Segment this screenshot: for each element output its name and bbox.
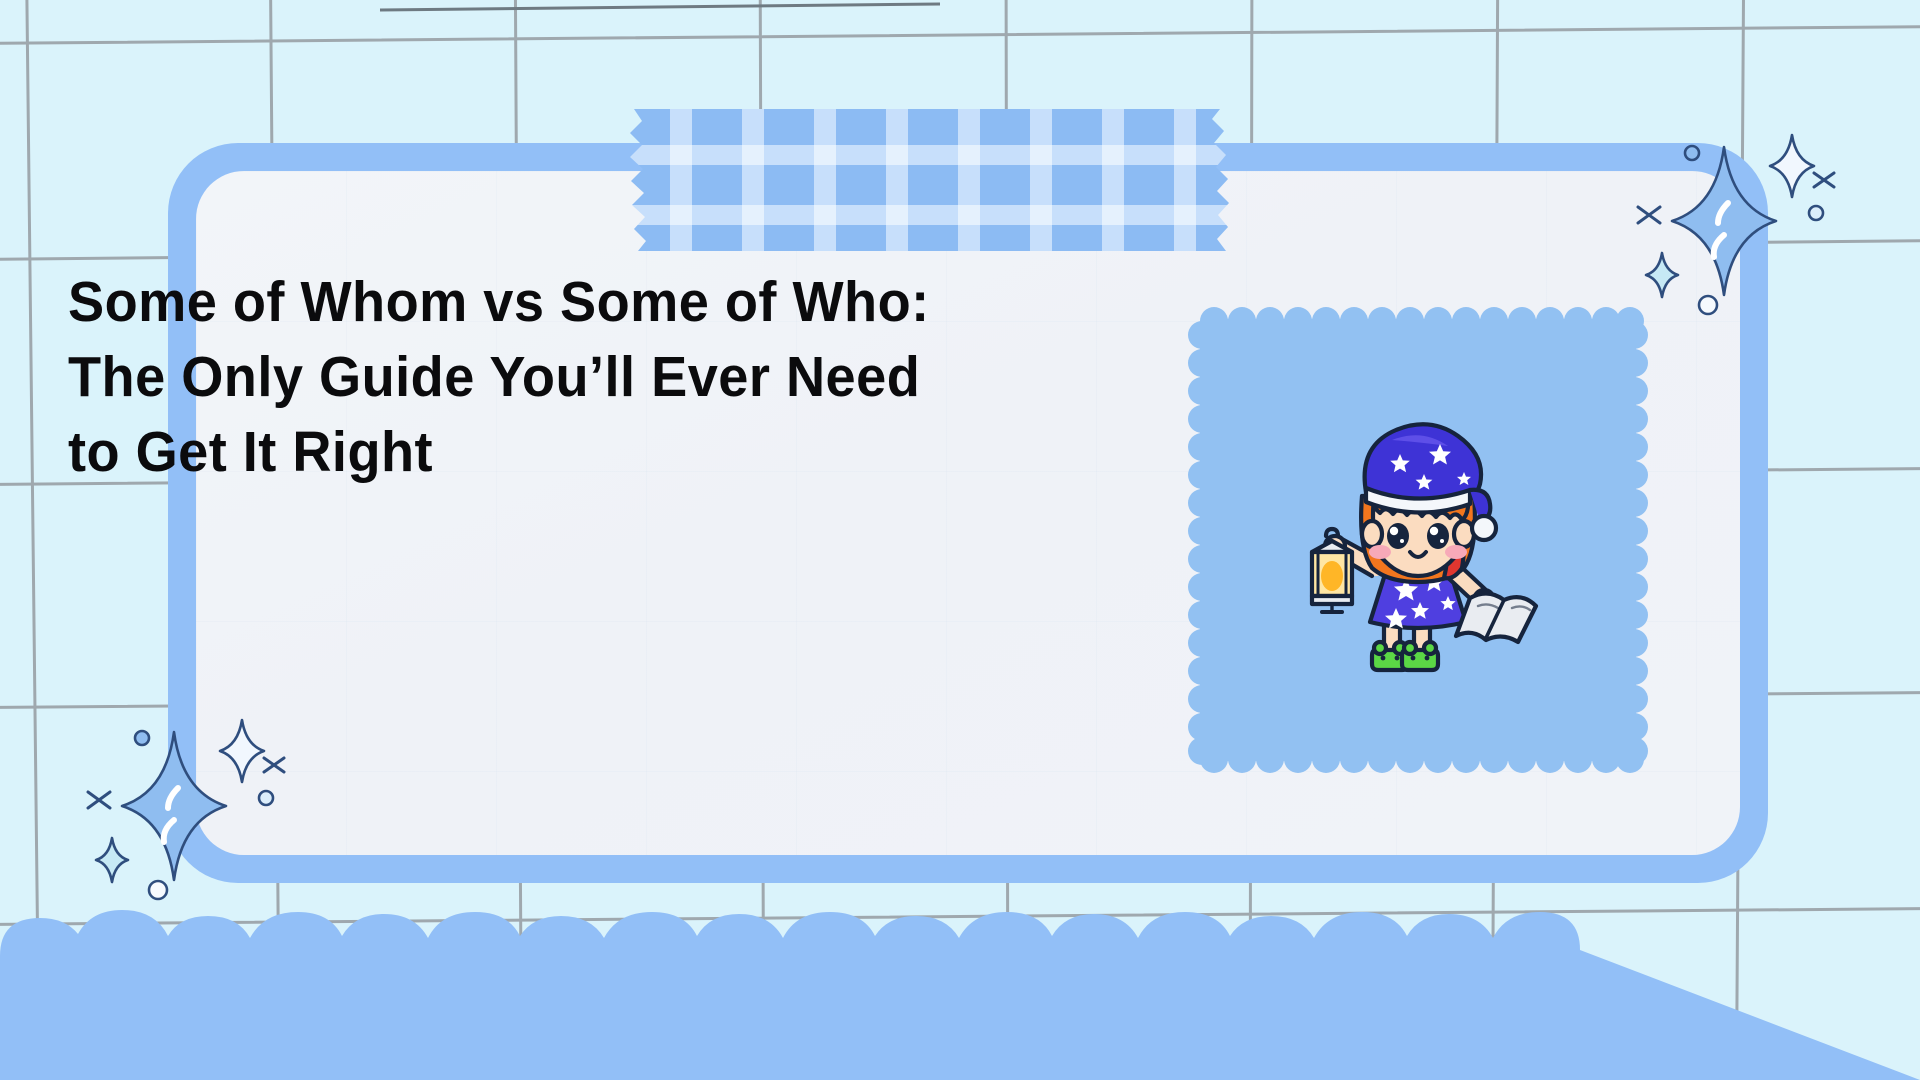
title-line-3: to Get It Right	[68, 415, 1028, 490]
scalloped-image-tile	[1186, 305, 1650, 775]
title-line-2: The Only Guide You’ll Ever Need	[68, 340, 1028, 415]
girl-in-pajamas-with-lantern-illustration	[1288, 400, 1548, 680]
scalloped-cloud-band	[0, 880, 1920, 1080]
page-title: Some of Whom vs Some of Who: The Only Gu…	[68, 265, 1078, 490]
title-line-1: Some of Whom vs Some of Who:	[68, 265, 1028, 340]
title-card-canvas: Some of Whom vs Some of Who: The Only Gu…	[0, 0, 1920, 1080]
